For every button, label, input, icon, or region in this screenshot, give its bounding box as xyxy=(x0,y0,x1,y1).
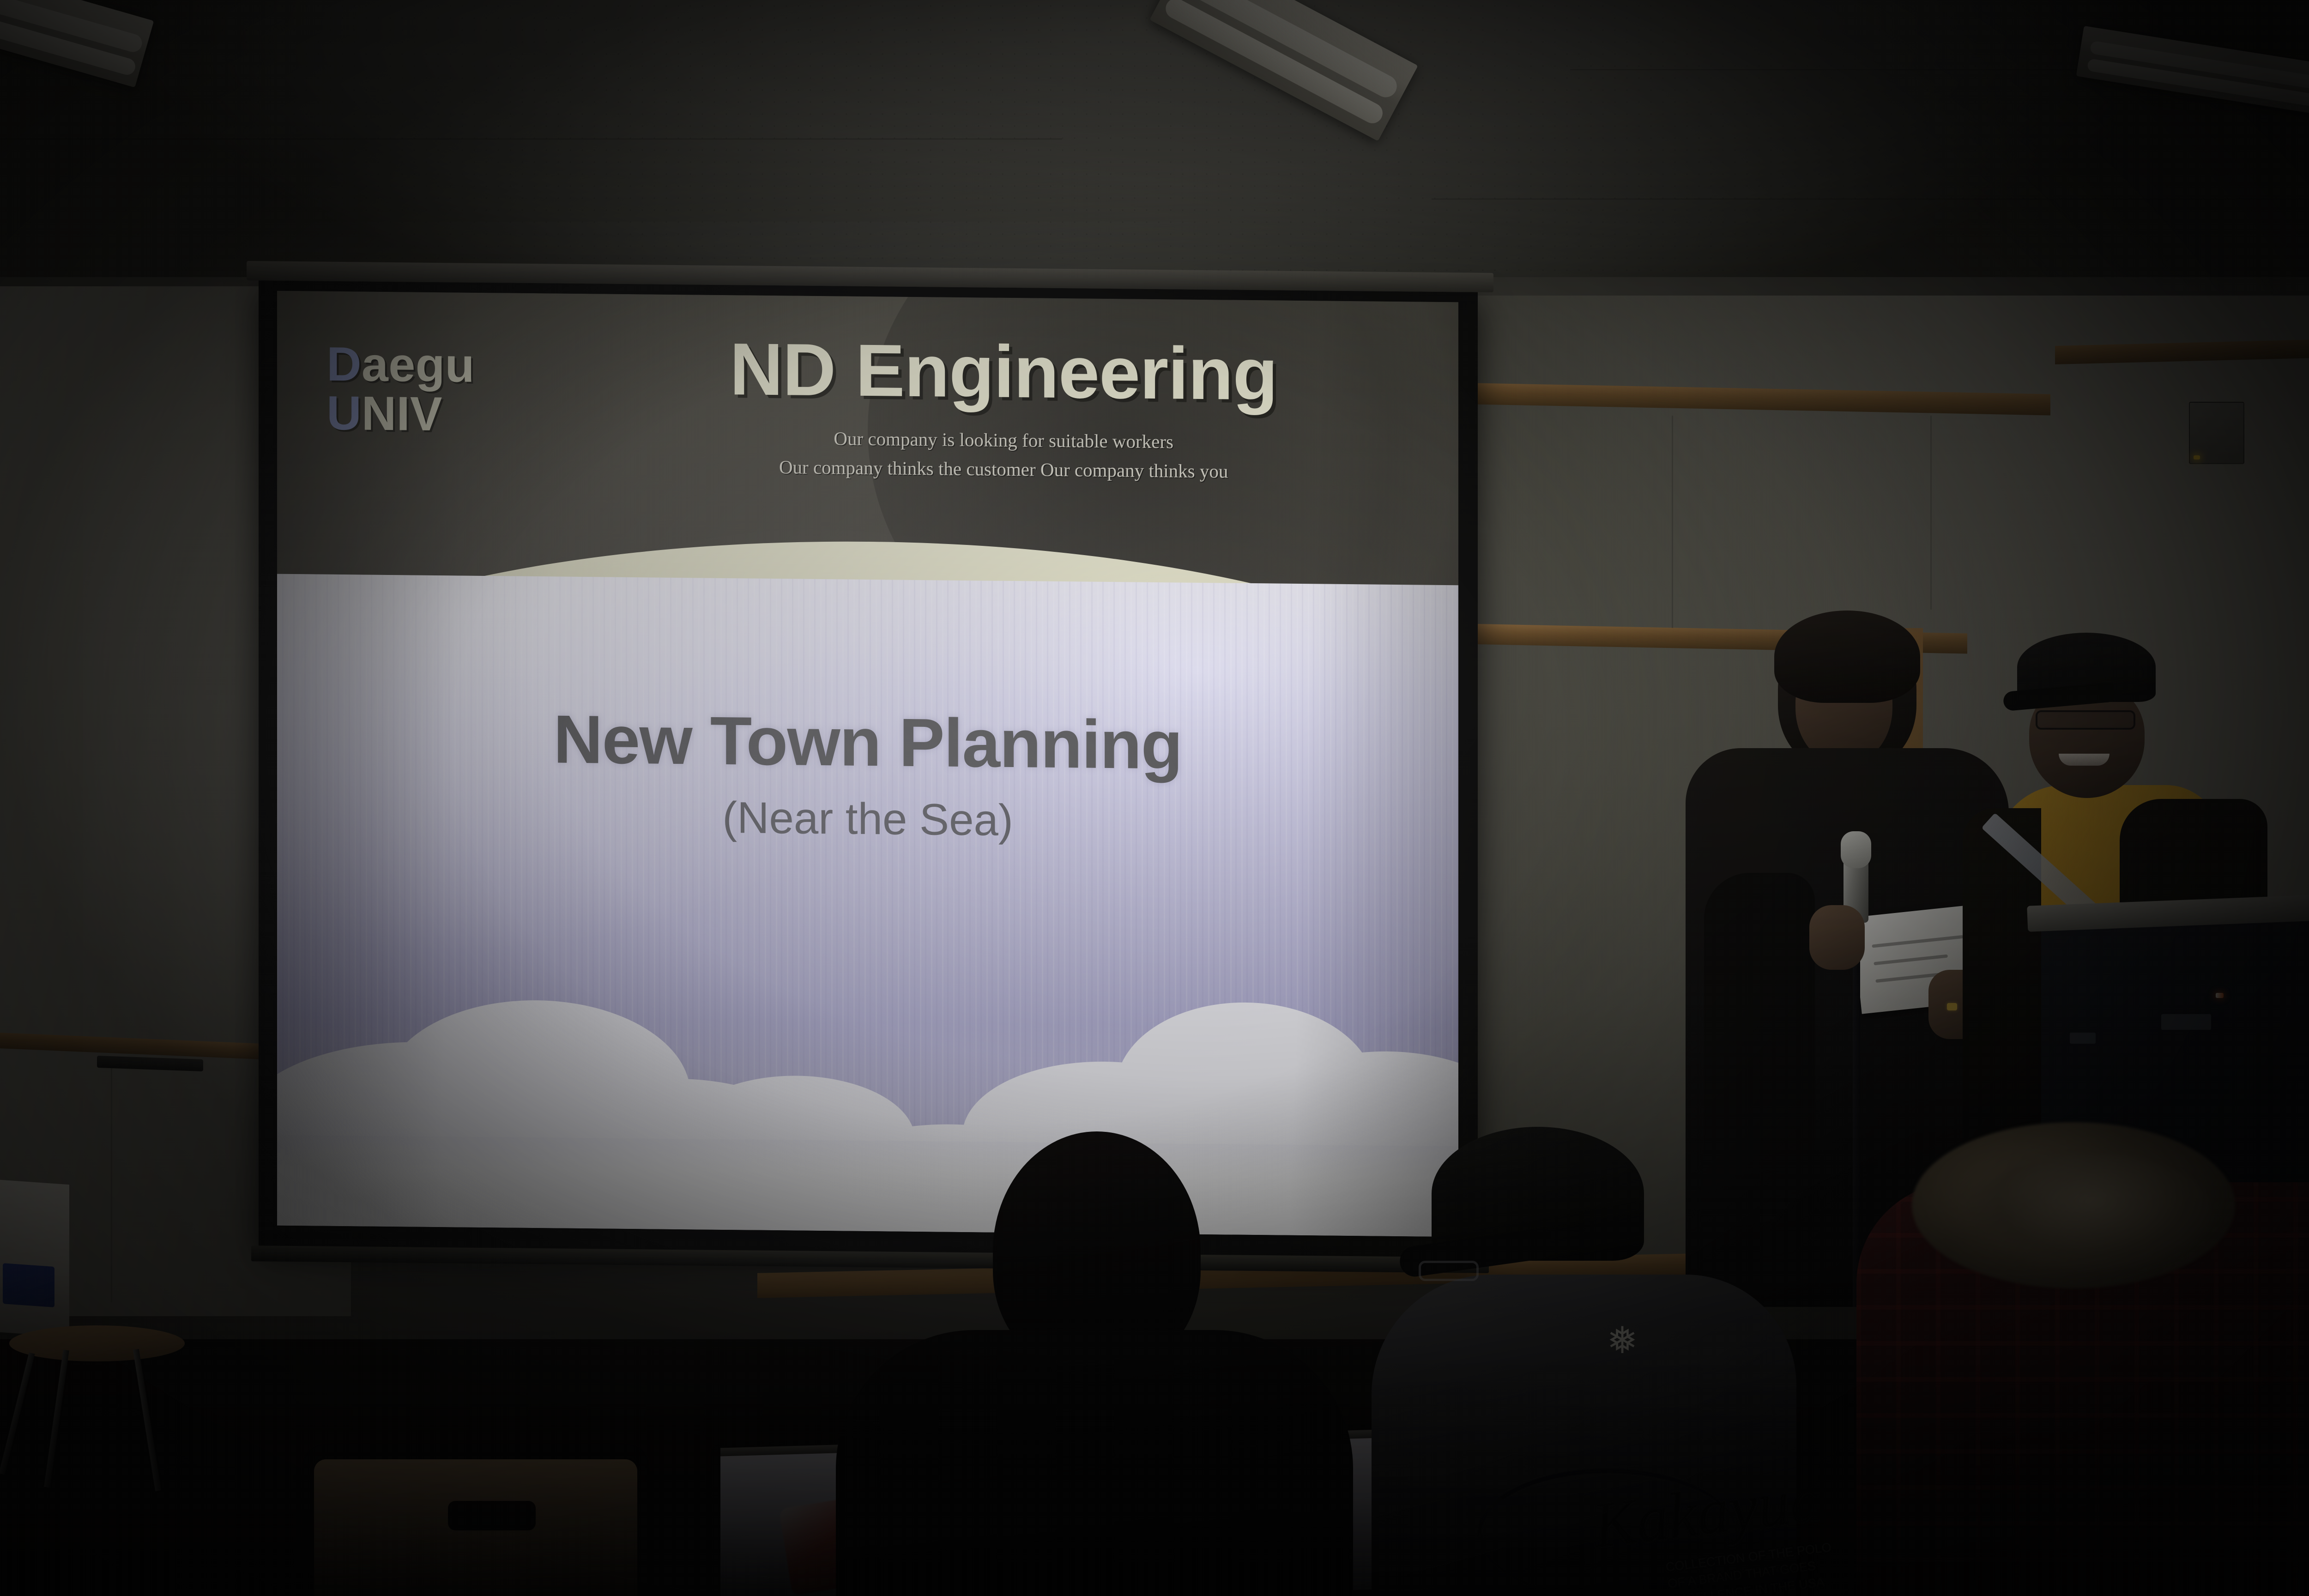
logo-line-daegu: Daegu xyxy=(326,340,474,390)
wall-panel-seam xyxy=(1672,416,1673,628)
stool-leg xyxy=(133,1349,161,1491)
stool-leg xyxy=(0,1352,35,1475)
wooden-stool xyxy=(9,1325,185,1362)
company-branding: ND Engineering Our company is looking fo… xyxy=(584,325,1423,487)
ceiling xyxy=(0,0,2309,296)
lectern-power-led xyxy=(2216,993,2224,998)
ceiling-seam xyxy=(0,139,1062,139)
presenter-hand-holding-mic xyxy=(1809,905,1865,970)
wall-mounted-speaker xyxy=(2189,402,2244,464)
logo-rest-niv: NIV xyxy=(362,387,442,441)
audience-member-cap-and-hoodie: ❅ Kakayua COLLECTION OF THE POLO OF A BR… xyxy=(1316,1122,1940,1596)
lectern-label-plate xyxy=(2070,1033,2096,1044)
parka-fur-highlight xyxy=(1972,1155,2212,1270)
wall-panel-seam xyxy=(1930,416,1932,610)
stool-seat xyxy=(9,1325,185,1361)
ceiling-acoustic-tile-texture xyxy=(0,0,2309,296)
logo-initial-u: U xyxy=(326,387,362,441)
logo-initial-d: D xyxy=(326,338,362,392)
logo-rest-aegu: aegu xyxy=(362,338,475,392)
hoodie-snowflake-emblem: ❅ xyxy=(1602,1321,1642,1360)
microphone-head xyxy=(1841,831,1871,868)
lectern-control-plate xyxy=(2161,1014,2211,1030)
wooden-chair-back xyxy=(314,1459,637,1596)
ceiling-seam xyxy=(1432,199,2309,199)
presenter-hair xyxy=(1774,611,1920,703)
slide-main-title: New Town Planning xyxy=(277,698,1458,788)
wall-panel-seam xyxy=(111,1062,112,1302)
university-logo: Daegu UNIV xyxy=(326,340,474,439)
paper-text-line xyxy=(1874,954,1948,965)
logo-line-univ: UNIV xyxy=(326,389,474,439)
eyeglasses xyxy=(1419,1261,1479,1281)
projected-slide: Daegu UNIV ND Engineering Our company is… xyxy=(277,291,1458,1237)
flipchart-board xyxy=(0,1180,69,1337)
audience-shoulders xyxy=(836,1330,1353,1596)
projection-screen: Daegu UNIV ND Engineering Our company is… xyxy=(259,280,1478,1257)
eyeglasses xyxy=(2036,710,2135,730)
paper-text-line xyxy=(1872,935,1963,948)
company-name: ND Engineering xyxy=(584,325,1423,418)
chair-handle-slot xyxy=(448,1501,536,1530)
slide-header-band: Daegu UNIV ND Engineering Our company is… xyxy=(277,291,1458,587)
stool-leg xyxy=(44,1350,69,1488)
slide-title-group: New Town Planning (Near the Sea) xyxy=(277,698,1458,851)
presenter-ring xyxy=(1947,1003,1957,1010)
audience-member-front-silhouette xyxy=(836,1131,1353,1596)
status-led-indicator xyxy=(2194,455,2200,459)
flipchart-blue-panel xyxy=(3,1263,54,1307)
second-presenter-smile xyxy=(2059,754,2110,766)
photo-canvas: Daegu UNIV ND Engineering Our company is… xyxy=(0,0,2309,1596)
